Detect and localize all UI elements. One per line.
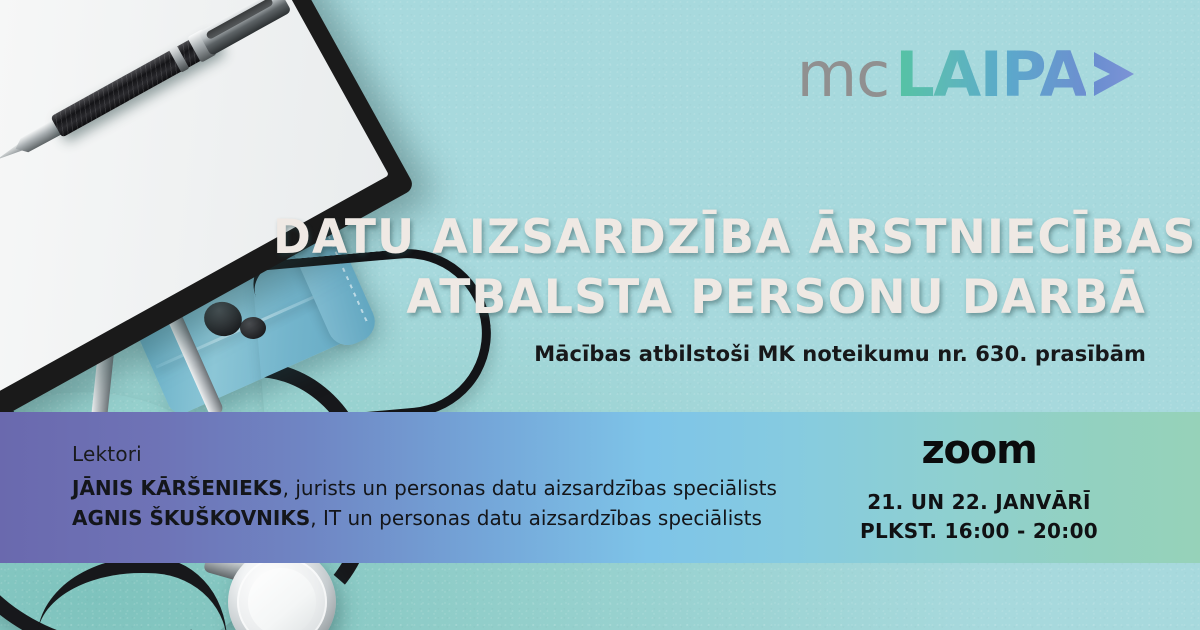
event-time: PLKST. 16:00 - 20:00 (860, 517, 1098, 545)
lecturers-label: Lektori (72, 442, 814, 466)
chevron-right-arrow-icon (1088, 46, 1146, 104)
list-item: AGNIS ŠKUŠKOVNIKS, IT un personas datu a… (72, 503, 814, 533)
lecturer-name: AGNIS ŠKUŠKOVNIKS (72, 506, 310, 530)
zoom-logo[interactable]: zoom (921, 430, 1036, 470)
schedule-section: zoom 21. UN 22. JANVĀRĪ PLKST. 16:00 - 2… (814, 430, 1200, 545)
brand-logo[interactable]: mc LAIPA (797, 44, 1146, 106)
event-date: 21. UN 22. JANVĀRĪ (860, 488, 1098, 516)
zoom-logo-text: zoom (921, 430, 1036, 470)
logo-prefix-text: mc (797, 44, 889, 106)
lecturer-name: JĀNIS KĀRŠENIEKS (72, 476, 283, 500)
lecturers-section: Lektori JĀNIS KĀRŠENIEKS, jurists un per… (0, 442, 814, 534)
poster-canvas: mc LAIPA DATU AIZSARDZĪBA ĀRSTNIECĪBAS A… (0, 0, 1200, 630)
list-item: JĀNIS KĀRŠENIEKS, jurists un personas da… (72, 473, 814, 503)
title-block: DATU AIZSARDZĪBA ĀRSTNIECĪBAS ATBALSTA P… (246, 208, 1146, 366)
lecturer-role: , IT un personas datu aizsardzības speci… (310, 506, 762, 530)
schedule-datetime: 21. UN 22. JANVĀRĪ PLKST. 16:00 - 20:00 (860, 488, 1098, 545)
page-title-line-2: ATBALSTA PERSONU DARBĀ (273, 268, 1146, 328)
logo-word-text: LAIPA (895, 44, 1086, 106)
lecturer-role: , jurists un personas datu aizsardzības … (283, 476, 777, 500)
info-banner: Lektori JĀNIS KĀRŠENIEKS, jurists un per… (0, 412, 1200, 563)
page-subtitle: Mācības atbilstoši MK noteikumu nr. 630.… (246, 342, 1146, 366)
page-title-line-1: DATU AIZSARDZĪBA ĀRSTNIECĪBAS (273, 208, 1146, 268)
